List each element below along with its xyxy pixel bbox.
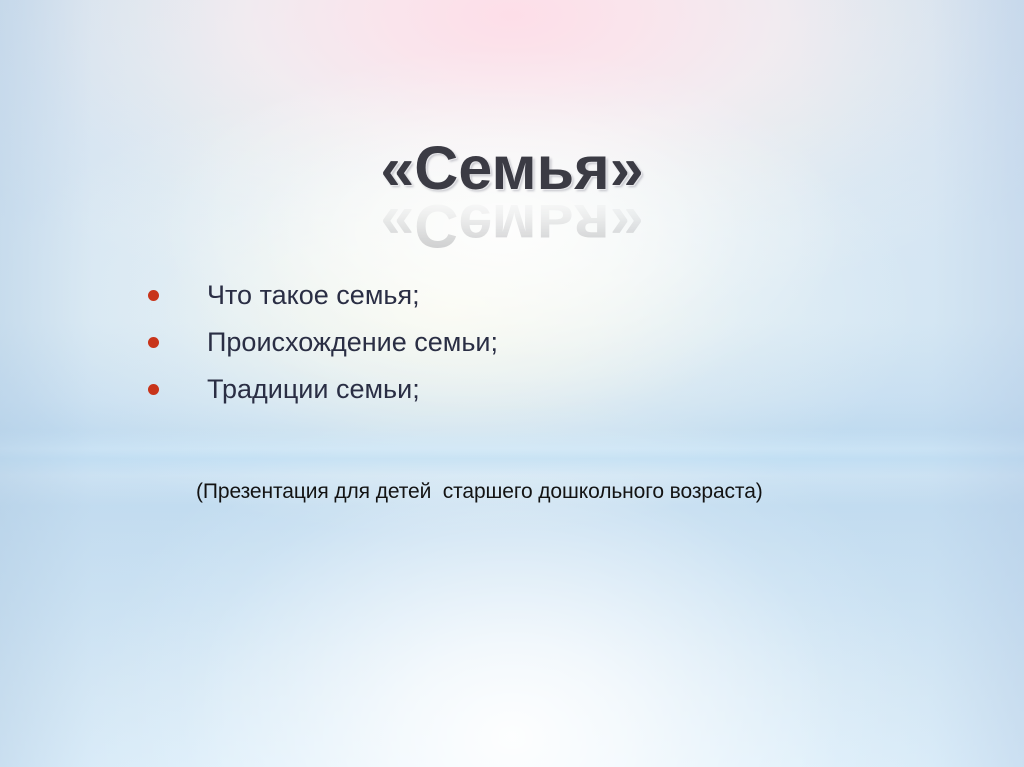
bullet-dot-icon	[148, 337, 159, 348]
bullet-dot-icon	[148, 384, 159, 395]
slide-bullet-list: Что такое семья; Происхождение семьи; Тр…	[148, 272, 848, 413]
slide-title-block: «Семья» «Семья»	[0, 138, 1024, 256]
bullet-item-label: Происхождение семьи;	[207, 328, 498, 356]
bullet-item-label: Традиции семьи;	[207, 375, 420, 403]
bullet-item-label: Что такое семья;	[207, 281, 420, 309]
slide-subtitle: (Презентация для детей старшего дошкольн…	[196, 480, 763, 504]
bullet-dot-icon	[148, 290, 159, 301]
presentation-slide: «Семья» «Семья» Что такое семья; Происхо…	[0, 0, 1024, 767]
slide-title: «Семья»	[0, 138, 1024, 199]
bullet-item: Что такое семья;	[148, 272, 848, 319]
bullet-item: Происхождение семьи;	[148, 319, 848, 366]
bullet-item: Традиции семьи;	[148, 366, 848, 413]
slide-title-reflection: «Семья»	[0, 195, 1024, 256]
